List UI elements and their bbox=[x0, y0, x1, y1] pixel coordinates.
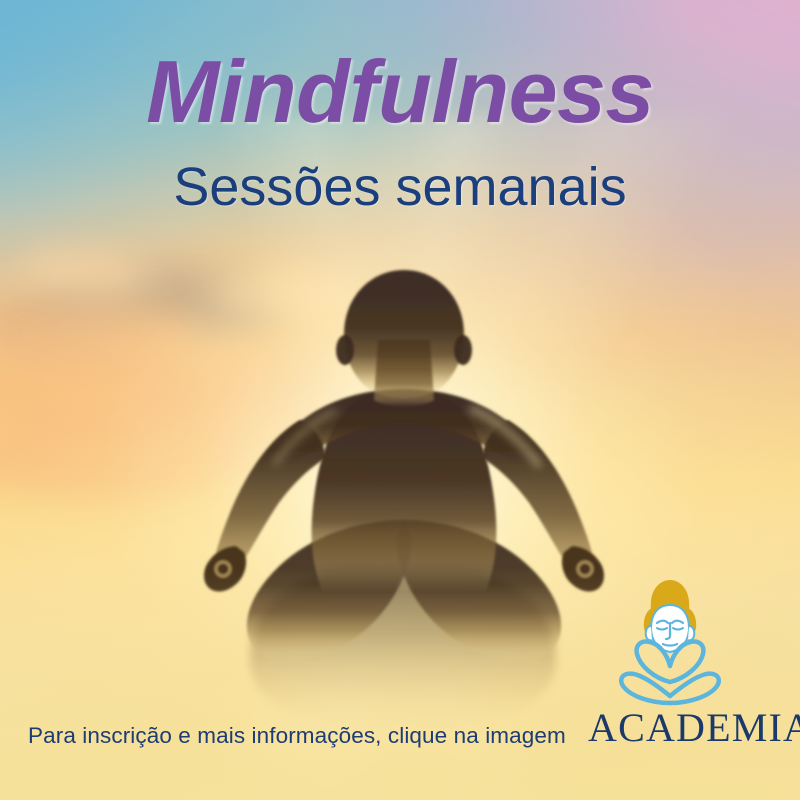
logo-wordmark: ACADEMIA bbox=[588, 704, 788, 751]
call-to-action-text[interactable]: Para inscrição e mais informações, cliqu… bbox=[28, 723, 566, 749]
mindfulness-poster[interactable]: Mindfulness Sessões semanais Para inscri… bbox=[0, 0, 800, 800]
page-title: Mindfulness bbox=[0, 46, 800, 138]
page-subtitle: Sessões semanais bbox=[0, 158, 800, 217]
academia-logo[interactable]: ACADEMIA bbox=[588, 578, 788, 768]
buddha-lotus-icon bbox=[610, 578, 730, 710]
